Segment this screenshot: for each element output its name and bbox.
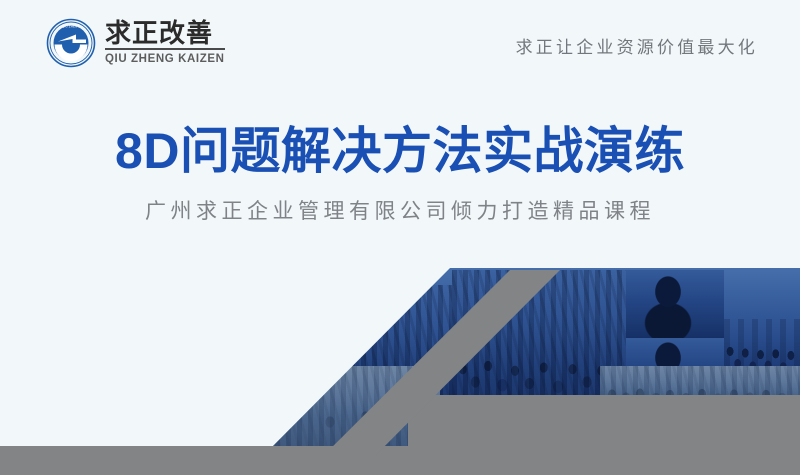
logo-company-name-en: QIU ZHENG KAIZEN <box>105 52 225 67</box>
title-block: 8D问题解决方法实战演练 广州求正企业管理有限公司倾力打造精品课程 <box>0 120 800 226</box>
poster-header: QIU ZHENG KAIZEN 求正改善 QIU ZHENG KAIZEN 求… <box>0 0 800 92</box>
grey-band-left <box>0 446 300 475</box>
page-title: 8D问题解决方法实战演练 <box>0 120 800 182</box>
course-poster: QIU ZHENG KAIZEN 求正改善 QIU ZHENG KAIZEN 求… <box>0 0 800 475</box>
company-logo[interactable]: QIU ZHENG KAIZEN 求正改善 QIU ZHENG KAIZEN <box>46 18 225 68</box>
grey-band-right <box>408 395 800 475</box>
logo-wordmark: 求正改善 QIU ZHENG KAIZEN <box>105 20 225 66</box>
svg-text:QIU ZHENG: QIU ZHENG <box>62 25 80 29</box>
logo-company-name-cn: 求正改善 <box>105 19 225 50</box>
header-tagline: 求正让企业资源价值最大化 <box>516 33 758 58</box>
page-subtitle: 广州求正企业管理有限公司倾力打造精品课程 <box>0 198 800 226</box>
circular-swoosh-emblem-icon: QIU ZHENG KAIZEN <box>46 18 96 68</box>
blue-tint-overlay <box>626 270 726 338</box>
speaker-at-podium-photo <box>626 270 726 338</box>
svg-text:KAIZEN: KAIZEN <box>65 60 77 64</box>
